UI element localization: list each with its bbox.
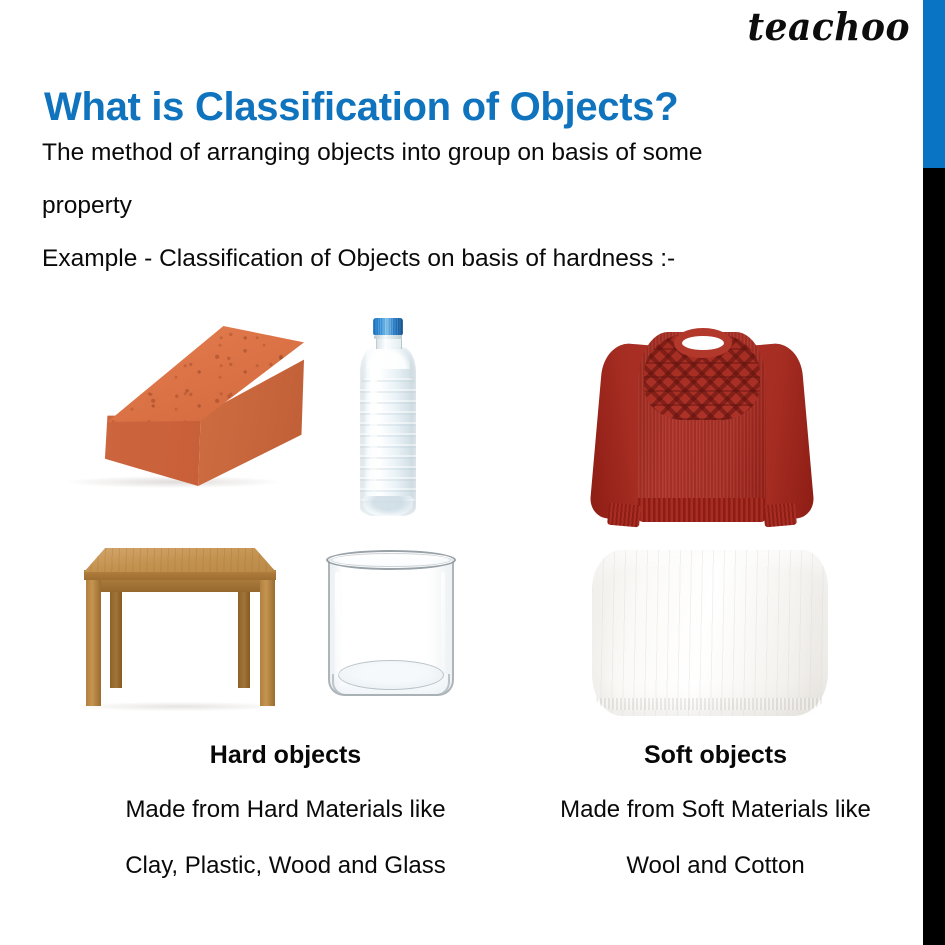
teachoo-logo: teachoo — [748, 8, 910, 46]
hard-objects-line-2: Clay, Plastic, Wood and Glass — [63, 854, 508, 878]
definition-text-block: The method of arranging objects into gro… — [42, 141, 892, 300]
right-edge-blue-bar — [923, 0, 945, 168]
table-apron — [94, 580, 266, 592]
soft-objects-line-1: Made from Soft Materials like — [493, 798, 938, 822]
bottle-base — [363, 496, 413, 516]
slide-canvas: teachoo What is Classification of Object… — [0, 0, 945, 945]
table-back-leg-left — [110, 578, 122, 688]
sweater-hem-rib — [638, 498, 766, 522]
hard-objects-title: Hard objects — [63, 742, 508, 768]
soft-objects-column: Soft objects Made from Soft Materials li… — [493, 742, 938, 910]
definition-line-3: Example - Classification of Objects on b… — [42, 247, 892, 300]
bottle-collar — [374, 335, 402, 339]
definition-line-2: property — [42, 194, 892, 247]
table-top-surface — [84, 548, 276, 572]
definition-line-1: The method of arranging objects into gro… — [42, 141, 892, 194]
glass-inner-rim — [331, 553, 451, 567]
hard-objects-line-1: Made from Hard Materials like — [63, 798, 508, 822]
table-shadow — [80, 702, 280, 711]
drinking-glass-image — [322, 548, 462, 708]
pillow-image — [592, 550, 828, 716]
bottle-ribs — [360, 378, 416, 504]
caption-row: Hard objects Made from Hard Materials li… — [0, 742, 923, 902]
brick-image — [52, 326, 304, 486]
table-back-leg-right — [238, 578, 250, 688]
table-front-leg-right — [260, 580, 275, 706]
hard-objects-column: Hard objects Made from Hard Materials li… — [63, 742, 508, 910]
glass-left-highlight — [335, 572, 340, 676]
soft-objects-title: Soft objects — [493, 742, 938, 768]
sweater-right-cuff — [763, 503, 797, 528]
glass-right-highlight — [441, 572, 445, 672]
glass-base-disc — [338, 660, 444, 690]
pillow-bottom-seam — [596, 698, 824, 710]
sweater-image — [600, 318, 805, 533]
sweater-collar — [674, 328, 732, 358]
sweater-left-cuff — [607, 503, 641, 528]
pillow-stripe-texture — [592, 550, 828, 716]
brick-shape — [52, 326, 304, 486]
table-front-leg-left — [86, 580, 101, 706]
bottle-highlight — [370, 360, 377, 492]
water-bottle-image — [355, 318, 421, 518]
object-illustration-grid — [0, 300, 923, 730]
bottle-cap-ridges — [373, 318, 403, 335]
page-title: What is Classification of Objects? — [44, 85, 678, 130]
wooden-table-image — [66, 548, 292, 723]
soft-objects-line-2: Wool and Cotton — [493, 854, 938, 878]
